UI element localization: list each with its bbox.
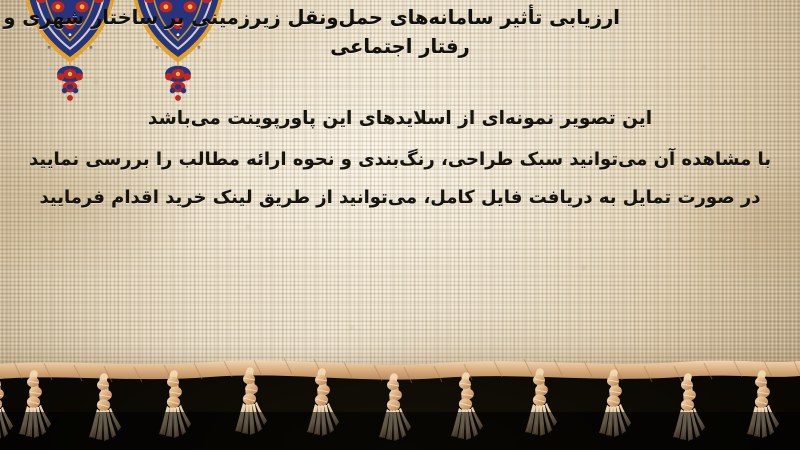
slide-body-line-2: با مشاهده آن می‌توانید سبک طراحی، رنگ‌بن… [0,151,800,169]
slide-body: این تصویر نمونه‌ای از اسلایدهای این پاور… [0,110,800,207]
slide-title: ارزیابی تأثیر سامانه‌های حمل‌ونقل زیرزمی… [10,4,790,62]
slide-body-line-3: در صورت تمایل به دریافت فایل کامل، می‌تو… [0,189,800,207]
fringe-cord-band [0,360,800,379]
slide-body-line-1: این تصویر نمونه‌ای از اسلایدهای این پاور… [0,110,800,129]
slide-title-line-2: رفتار اجتماعی [10,33,790,62]
slide-canvas: ارزیابی تأثیر سامانه‌های حمل‌ونقل زیرزمی… [0,0,800,450]
slide-title-line-1: ارزیابی تأثیر سامانه‌های حمل‌ونقل زیرزمی… [10,4,790,33]
tassel-fringe [0,352,800,450]
